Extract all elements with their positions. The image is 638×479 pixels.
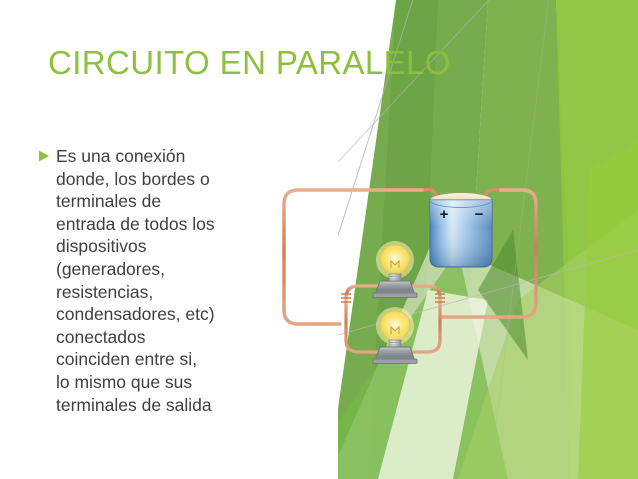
slide-canvas: CIRCUITO EN PARALELO Es una conexión don…	[0, 0, 638, 479]
decor-shape-bright-sliver	[578, 140, 638, 479]
bulb-upper-neck	[389, 274, 401, 281]
bulb-lower-socket-plate	[373, 359, 417, 364]
wire-branch-lower-right	[420, 298, 440, 352]
light-bulb-lower	[373, 307, 417, 364]
bullet-paragraph-text: Es una conexión donde, los bordes o term…	[56, 145, 278, 416]
triangle-right-bullet-icon	[38, 145, 56, 163]
bulb-upper-socket-plate	[373, 293, 417, 298]
decor-shape-bright-band	[556, 0, 638, 479]
body-content-block: Es una conexión donde, los bordes o term…	[38, 145, 278, 416]
battery-cell: + −	[425, 190, 498, 268]
wire-branch-upper-right	[420, 286, 440, 298]
battery-minus-label: −	[475, 206, 484, 223]
light-bulb-upper	[373, 241, 417, 298]
page-title: CIRCUITO EN PARALELO	[48, 44, 451, 82]
battery-plus-label: +	[440, 206, 449, 223]
list-item: Es una conexión donde, los bordes o term…	[38, 145, 278, 416]
parallel-circuit-diagram: + −	[268, 168, 558, 378]
bulb-lower-neck	[389, 340, 401, 347]
